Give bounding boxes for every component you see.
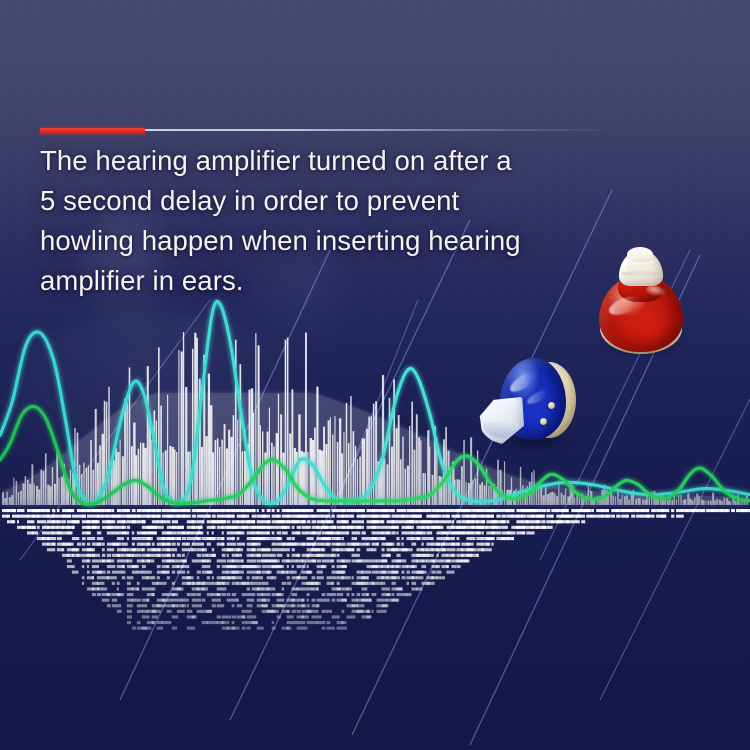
blue-device-vent-lower: [540, 418, 547, 425]
waveform-reflection-bars: [2, 509, 750, 630]
red-device-dome-cap: [627, 247, 653, 262]
red-device-dome-ridge: [621, 271, 661, 276]
headline-text: The hearing amplifier turned on after a …: [40, 141, 660, 301]
hearing-aid-blue: [478, 356, 582, 450]
hearing-aid-red: [596, 250, 686, 354]
divider-red-segment: [40, 128, 145, 134]
accent-divider: [40, 128, 618, 131]
product-banner: The hearing amplifier turned on after a …: [0, 0, 750, 750]
blue-device-vent-upper: [548, 402, 555, 409]
